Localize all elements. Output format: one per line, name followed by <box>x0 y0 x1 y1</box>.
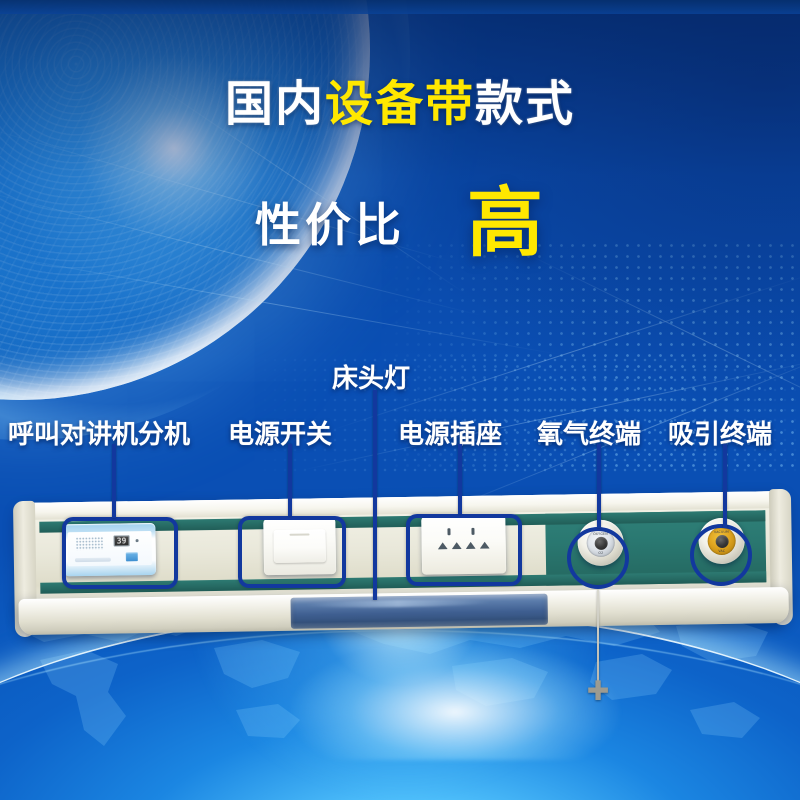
callout-bed-light-label: 床头灯 <box>332 358 410 395</box>
callout-power-socket-label: 电源插座 <box>398 414 502 451</box>
callout-power-switch-leader-line <box>288 444 292 516</box>
callout-suction-label: 吸引终端 <box>668 414 772 451</box>
callout-suction-leader-line <box>723 444 727 528</box>
callout-layer: 呼叫对讲机分机电源开关床头灯电源插座氧气终端吸引终端 <box>0 0 800 800</box>
callout-intercom-leader-line <box>112 444 116 518</box>
callout-oxygen-leader-line <box>597 444 601 528</box>
callout-bed-light-leader-line <box>373 390 377 600</box>
callout-power-switch-label: 电源开关 <box>228 414 332 451</box>
callout-intercom-label: 呼叫对讲机分机 <box>8 414 190 451</box>
promo-stage: 国内设备带款式 性价比高 39 <box>0 0 800 800</box>
callout-oxygen-label: 氧气终端 <box>537 414 641 451</box>
callout-power-socket-leader-line <box>458 444 462 514</box>
